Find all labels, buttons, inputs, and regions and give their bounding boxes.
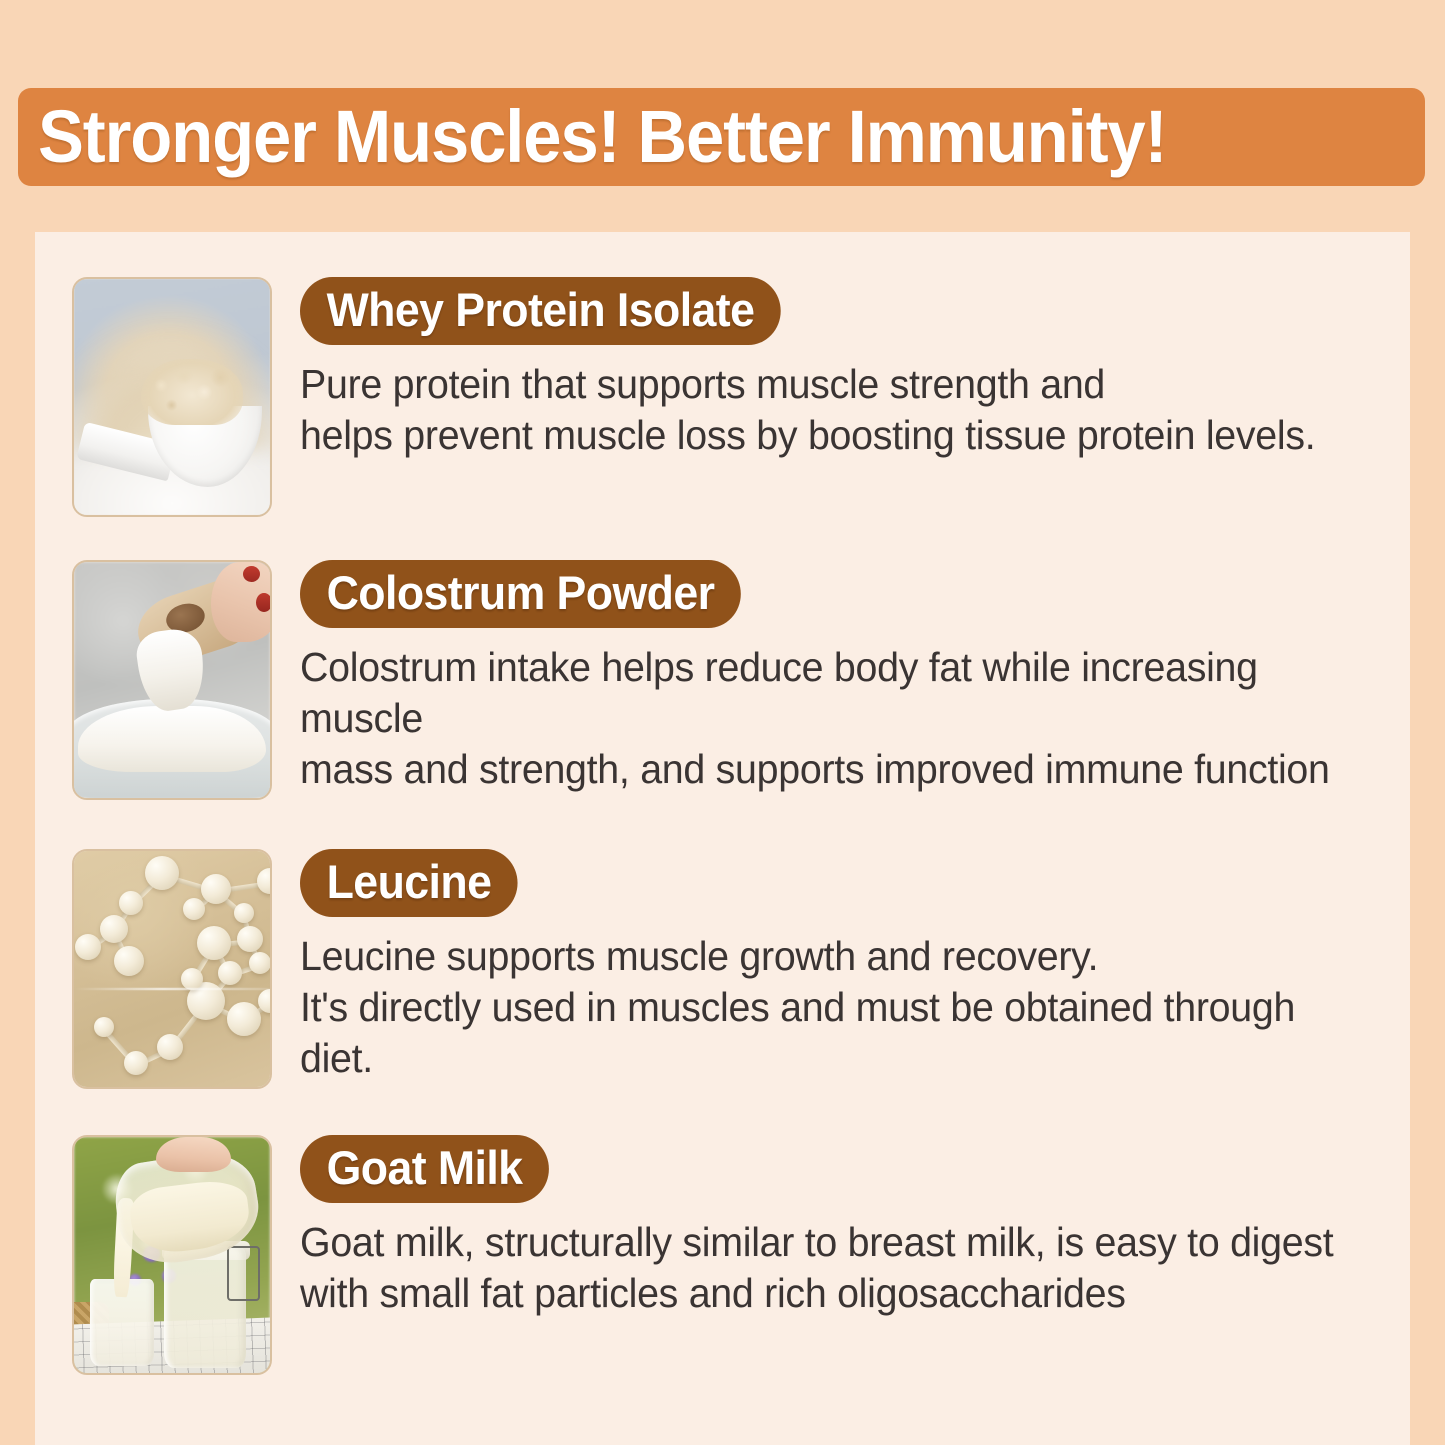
goat-milk-pouring-image [72,1135,272,1375]
whey-protein-scoop-image [72,277,272,517]
ingredient-text-block: Leucine Leucine supports muscle growth a… [300,849,1410,1084]
ingredient-description-leucine: Leucine supports muscle growth and recov… [300,931,1366,1084]
colostrum-powder-scoop-image [72,560,272,800]
leucine-molecule-image [72,849,272,1089]
ingredient-badge-goat-milk: Goat Milk [300,1135,549,1203]
ingredient-item-whey-protein-isolate: Whey Protein Isolate Pure protein that s… [72,277,1358,517]
ingredient-text-block: Colostrum Powder Colostrum intake helps … [300,560,1410,795]
ingredient-badge-whey-protein-isolate: Whey Protein Isolate [300,277,781,345]
header-banner: Stronger Muscles! Better Immunity! [18,88,1425,186]
ingredient-text-block: Goat Milk Goat milk, structurally simila… [300,1135,1376,1319]
ingredient-badge-leucine: Leucine [300,849,518,917]
ingredient-item-colostrum-powder: Colostrum Powder Colostrum intake helps … [72,560,1410,800]
ingredient-description-goat-milk: Goat milk, structurally similar to breas… [300,1217,1333,1319]
ingredients-panel: Whey Protein Isolate Pure protein that s… [35,232,1410,1445]
ingredient-badge-colostrum-powder: Colostrum Powder [300,560,741,628]
ingredient-item-goat-milk: Goat Milk Goat milk, structurally simila… [72,1135,1376,1375]
page-title: Stronger Muscles! Better Immunity! [38,100,1166,174]
ingredient-item-leucine: Leucine Leucine supports muscle growth a… [72,849,1410,1089]
ingredient-text-block: Whey Protein Isolate Pure protein that s… [300,277,1358,461]
ingredient-description-whey-protein-isolate: Pure protein that supports muscle streng… [300,359,1315,461]
ingredient-description-colostrum-powder: Colostrum intake helps reduce body fat w… [300,642,1366,795]
